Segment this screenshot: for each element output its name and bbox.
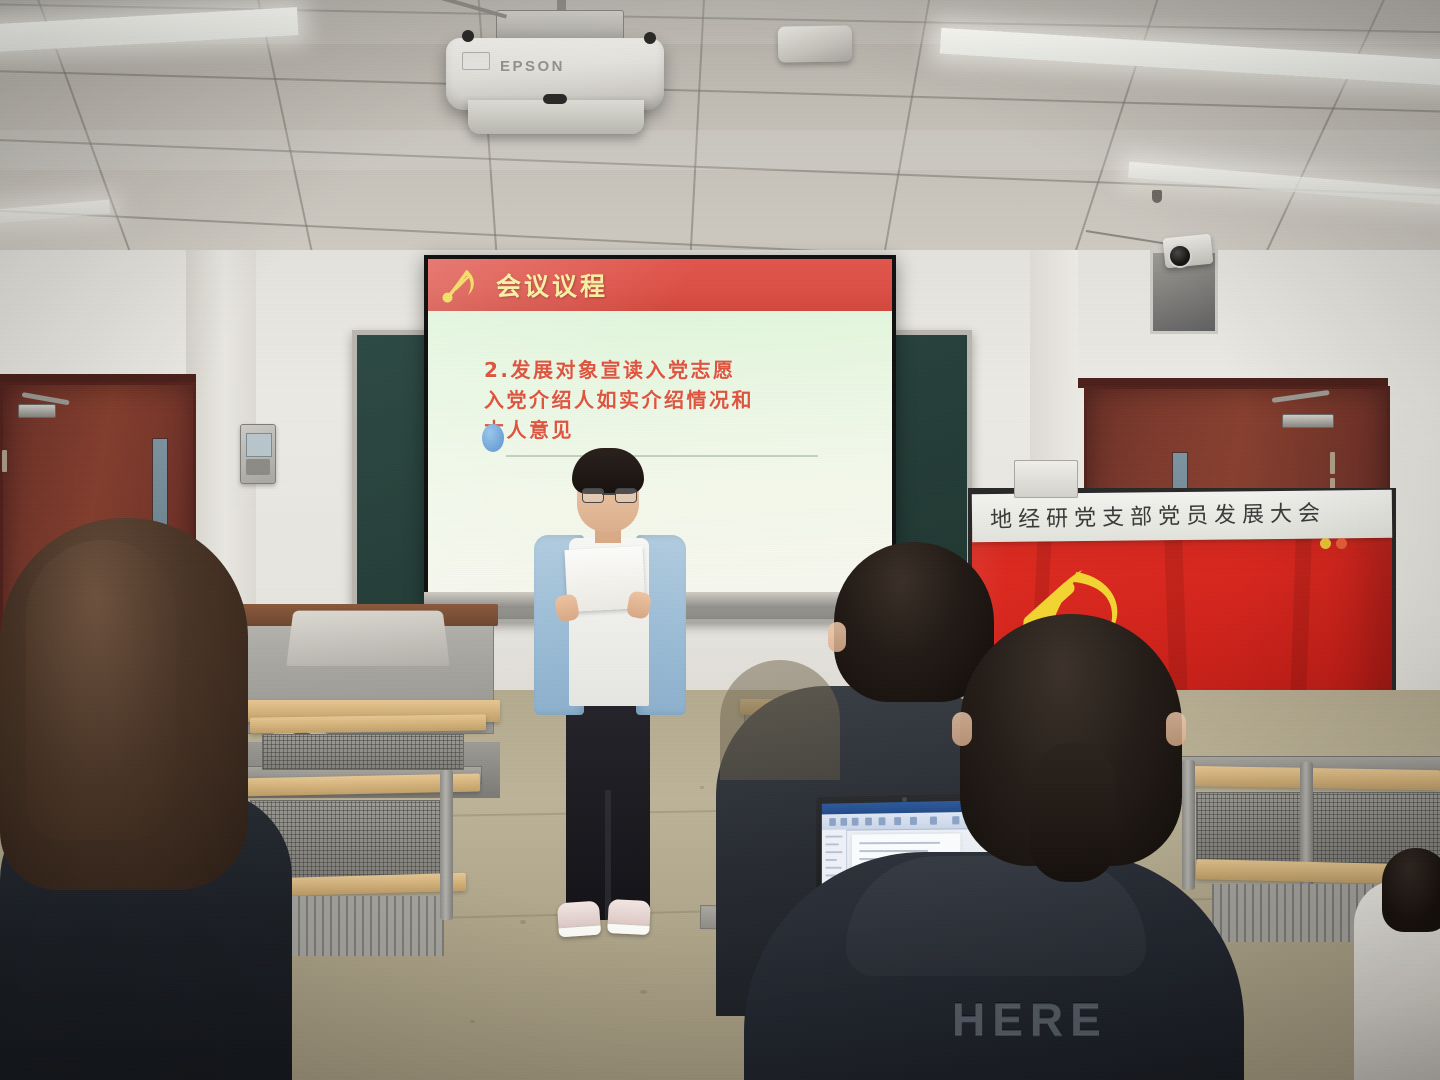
student-front-right-ear-left	[952, 712, 972, 746]
projector-body-lower	[468, 100, 644, 134]
keypad-screen	[246, 433, 272, 457]
projector-spec-label	[462, 52, 490, 70]
student-front-right-ear-right	[1166, 712, 1186, 746]
party-emblem-icon	[442, 266, 482, 304]
slide-body-line-3: 本人意见	[484, 415, 864, 445]
desk-post-left-b	[440, 770, 453, 920]
student-far-right-hair	[1382, 848, 1440, 932]
slide-body-line-1: 2.发展对象宣读入党志愿	[484, 355, 864, 385]
shoe-sole-right	[607, 923, 649, 935]
desk-post-right-a	[1182, 760, 1195, 890]
door-hinge-left	[2, 450, 7, 472]
projector-lens-icon	[543, 94, 567, 104]
keypad-buttons[interactable]	[246, 459, 270, 475]
ceiling-speaker	[778, 25, 853, 62]
projector-foot-right	[644, 32, 656, 44]
presenter-glasses-icon	[582, 488, 635, 501]
projector-foot-left	[462, 30, 474, 42]
camera-lens-icon	[1168, 244, 1192, 268]
slide-title: 会议议程	[496, 267, 608, 303]
podium-monitor-hood	[286, 611, 449, 666]
door-closer-right	[1282, 414, 1334, 428]
banner-sticker-yellow	[1320, 538, 1331, 549]
wall-control-keypad[interactable]	[240, 424, 276, 484]
door-hinge-right	[1330, 452, 1335, 474]
desk-row-left-far-mesh	[262, 734, 464, 770]
classroom-photo: EPSON	[0, 0, 1440, 1080]
banner-sticker-orange	[1336, 538, 1347, 549]
student-front-left-hair-highlight	[26, 540, 176, 840]
presenter-leg-gap	[605, 790, 611, 920]
slide-body-line-2: 入党介绍人如实介绍情况和	[484, 385, 864, 415]
sprinkler-icon	[1152, 190, 1162, 203]
jacket-print-here: HERE	[952, 992, 1108, 1046]
slide-underline	[506, 455, 818, 457]
slide-bullet-icon	[482, 424, 504, 452]
student-front-right-ponytail	[1030, 742, 1116, 882]
desk-row-left-far-top	[250, 714, 486, 733]
door-closer-left	[18, 404, 56, 418]
presenter-hand-left	[554, 593, 580, 622]
slide-body-text: 2.发展对象宣读入党志愿 入党介绍人如实介绍情况和 本人意见	[484, 355, 864, 445]
student-behind-laptop	[720, 660, 840, 780]
wall-cabinet	[1014, 460, 1078, 498]
slide-header: 会议议程	[428, 259, 892, 311]
presenter-shoe-right	[607, 899, 651, 935]
presenter-shoe-left	[557, 901, 601, 938]
projector-brand-label: EPSON	[500, 58, 565, 75]
student-mid-right-ear	[828, 622, 846, 652]
